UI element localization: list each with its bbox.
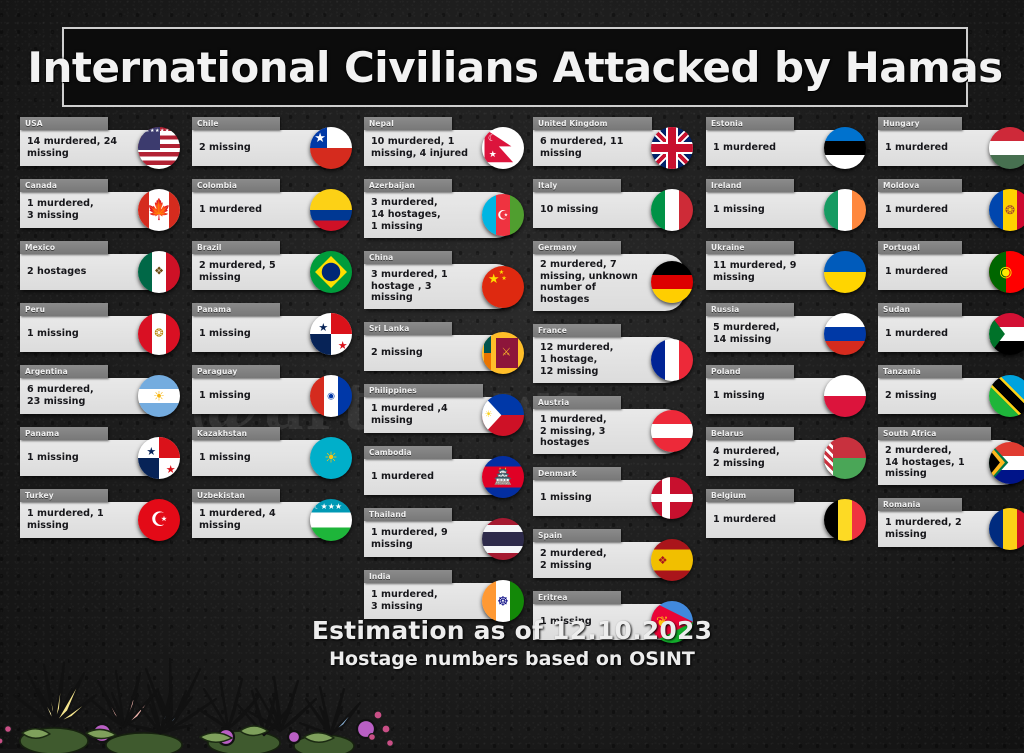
casualty-detail-row: 5 murdered,14 missing: [706, 316, 858, 352]
casualty-detail-row: 1 missing ☀: [192, 440, 344, 476]
country-card-argentina[interactable]: Argentina6 murdered,23 missing ☀: [20, 365, 172, 414]
casualty-detail-text: 4 murdered,2 missing: [713, 446, 780, 469]
flag-canada-icon: 🍁: [138, 189, 180, 231]
country-column: USA14 murdered, 24 missing ★★★★★★★★★★★★★…: [20, 117, 172, 551]
country-name-tab: China: [364, 251, 452, 264]
country-name-tab: Kazakhstan: [192, 427, 280, 440]
country-card-nepal[interactable]: Nepal10 murdered, 1 missing, 4 injured ☾…: [364, 117, 516, 166]
flag-philippines-icon: ☀: [482, 394, 524, 436]
country-name-tab: Mexico: [20, 241, 108, 254]
country-name-label: Philippines: [369, 386, 417, 395]
country-name-label: Argentina: [25, 367, 68, 376]
country-card-south-africa[interactable]: South Africa2 murdered,14 hostages, 1 mi…: [878, 427, 1023, 485]
country-name-label: Sri Lanka: [369, 324, 409, 333]
country-card-austria[interactable]: Austria1 murdered,2 missing, 3 hostages: [533, 396, 685, 454]
flag-uk-icon: [651, 127, 693, 169]
country-name-tab: Sri Lanka: [364, 322, 452, 335]
casualty-detail-text: 2 murdered,2 missing: [540, 548, 607, 571]
casualty-detail-row: 1 murdered ◉: [878, 254, 1023, 290]
country-card-cambodia[interactable]: Cambodia1 murdered 🏯: [364, 446, 516, 495]
casualty-detail-row: 1 murdered,2 missing, 3 hostages: [533, 409, 685, 454]
country-name-tab: Spain: [533, 529, 621, 542]
casualty-detail-row: 2 missing ⚔: [364, 335, 516, 371]
country-name-label: Russia: [711, 305, 739, 314]
flag-peru-icon: ❂: [138, 313, 180, 355]
flag-uzbekistan-icon: ☾★★★: [310, 499, 352, 541]
country-name-label: Denmark: [538, 469, 577, 478]
flag-spain-icon: ❖: [651, 539, 693, 581]
country-name-label: Moldova: [883, 181, 919, 190]
country-name-tab: Italy: [533, 179, 621, 192]
casualty-detail-row: 4 murdered,2 missing: [706, 440, 858, 476]
country-card-ireland[interactable]: Ireland1 missing: [706, 179, 858, 228]
country-card-colombia[interactable]: Colombia1 murdered: [192, 179, 344, 228]
flag-hungary-icon: [989, 127, 1024, 169]
casualty-detail-row: 1 missing: [706, 378, 858, 414]
country-card-moldova[interactable]: Moldova1 murdered ❂: [878, 179, 1023, 228]
country-name-label: Ireland: [711, 181, 742, 190]
country-column: Chile2 missing ★Colombia1 murderedBrazil…: [192, 117, 344, 551]
flag-germany-icon: [651, 261, 693, 303]
country-name-label: Germany: [538, 243, 577, 252]
country-name-label: Panama: [197, 305, 231, 314]
flag-nepal-icon: ☾ ★: [482, 127, 524, 169]
flag-france-icon: [651, 339, 693, 381]
casualty-detail-row: 1 murdered 🏯: [364, 459, 516, 495]
country-name-tab: Nepal: [364, 117, 452, 130]
casualty-detail-text: 3 murdered, 1 hostage , 3 missing: [371, 269, 472, 304]
country-name-tab: United Kingdom: [533, 117, 652, 130]
flag-argentina-icon: ☀: [138, 375, 180, 417]
country-name-tab: Peru: [20, 303, 108, 316]
country-name-tab: Brazil: [192, 241, 280, 254]
casualty-detail-row: 2 missing ★: [192, 130, 344, 166]
country-name-tab: Thailand: [364, 508, 452, 521]
casualty-detail-text: 1 murdered, 1 missing: [27, 508, 128, 531]
country-name-tab: Panama: [20, 427, 108, 440]
casualty-detail-text: 10 murdered, 1 missing, 4 injured: [371, 136, 472, 159]
casualty-detail-text: 1 missing: [540, 492, 592, 504]
country-card-france[interactable]: France12 murdered,1 hostage,12 missing: [533, 324, 685, 383]
flag-colombia-icon: [310, 189, 352, 231]
page-title: International Civilians Attacked by Hama…: [27, 43, 1002, 92]
country-card-portugal[interactable]: Portugal1 murdered ◉: [878, 241, 1023, 290]
casualty-detail-row: 6 murdered,23 missing ☀: [20, 378, 172, 414]
casualty-detail-row: 3 murdered, 1 hostage , 3 missing ★ ★ ★: [364, 264, 516, 309]
casualty-detail-row: 1 missing ❂: [20, 316, 172, 352]
country-column: United Kingdom6 murdered, 11 missing Ita…: [533, 117, 685, 653]
country-name-label: Azerbaijan: [369, 181, 415, 190]
casualty-detail-text: 6 murdered, 11 missing: [540, 136, 641, 159]
flag-ukraine-icon: [824, 251, 866, 293]
casualty-detail-text: 1 murdered, 2 missing: [885, 517, 979, 540]
casualty-detail-text: 2 missing: [885, 390, 937, 402]
casualty-detail-row: 2 hostages ❖: [20, 254, 172, 290]
casualty-detail-text: 1 murdered: [371, 471, 434, 483]
casualty-detail-row: 1 missing: [533, 480, 685, 516]
casualty-detail-row: 1 murdered, 9 missing: [364, 521, 516, 557]
country-card-germany[interactable]: Germany2 murdered, 7 missing, unknown nu…: [533, 241, 685, 311]
country-name-tab: USA: [20, 117, 108, 130]
casualty-detail-row: 11 murdered, 9 missing: [706, 254, 858, 290]
casualty-detail-row: 10 missing: [533, 192, 685, 228]
flag-paraguay-icon: ◉: [310, 375, 352, 417]
country-name-tab: Uzbekistan: [192, 489, 280, 502]
country-name-tab: India: [364, 570, 452, 583]
casualty-detail-row: 1 missing ◉: [192, 378, 344, 414]
casualty-detail-text: 14 murdered, 24 missing: [27, 136, 128, 159]
flag-kazakhstan-icon: ☀: [310, 437, 352, 479]
casualty-detail-text: 1 missing: [713, 390, 765, 402]
flag-usa-icon: ★★★★★★★★★★★★★★: [138, 127, 180, 169]
country-card-uzbekistan[interactable]: Uzbekistan1 murdered, 4 missing ☾★★★: [192, 489, 344, 538]
country-card-belgium[interactable]: Belgium1 murdered: [706, 489, 858, 538]
country-name-label: United Kingdom: [538, 119, 607, 128]
casualty-detail-row: 1 murdered: [706, 502, 858, 538]
country-card-belarus[interactable]: Belarus4 murdered,2 missing: [706, 427, 858, 476]
country-name-tab: Poland: [706, 365, 794, 378]
casualty-detail-row: 6 murdered, 11 missing: [533, 130, 685, 166]
casualty-detail-text: 1 murdered: [885, 204, 948, 216]
country-name-label: Eritrea: [538, 593, 568, 602]
casualty-detail-text: 1 murdered: [713, 514, 776, 526]
flag-poland-icon: [824, 375, 866, 417]
flag-belgium-icon: [824, 499, 866, 541]
casualty-detail-text: 2 murdered, 5 missing: [199, 260, 300, 283]
country-name-label: Turkey: [25, 491, 54, 500]
country-name-label: Italy: [538, 181, 557, 190]
country-name-tab: Estonia: [706, 117, 794, 130]
casualty-detail-row: 1 murdered: [192, 192, 344, 228]
country-card-chile[interactable]: Chile2 missing ★: [192, 117, 344, 166]
casualty-detail-row: 14 murdered, 24 missing ★★★★★★★★★★★★★★: [20, 130, 172, 166]
casualty-detail-text: 1 missing: [199, 390, 251, 402]
country-name-tab: Colombia: [192, 179, 280, 192]
flag-cambodia-icon: 🏯: [482, 456, 524, 498]
country-column: Nepal10 murdered, 1 missing, 4 injured ☾…: [364, 117, 516, 632]
casualty-detail-row: 12 murdered,1 hostage,12 missing: [533, 337, 685, 383]
flag-tanzania-icon: [989, 375, 1024, 417]
casualty-detail-text: 1 missing: [199, 328, 251, 340]
country-column: Hungary1 murderedMoldova1 murdered ❂Port…: [878, 117, 1023, 560]
country-name-tab: Portugal: [878, 241, 962, 254]
country-card-sri-lanka[interactable]: Sri Lanka2 missing ⚔: [364, 322, 516, 371]
casualty-detail-text: 1 murdered, 9 missing: [371, 527, 472, 550]
country-name-tab: Austria: [533, 396, 621, 409]
country-name-label: Canada: [25, 181, 57, 190]
country-card-sudan[interactable]: Sudan1 murdered: [878, 303, 1023, 352]
country-card-paraguay[interactable]: Paraguay1 missing ◉: [192, 365, 344, 414]
flag-thailand-icon: [482, 518, 524, 560]
casualty-detail-text: 1 murdered,3 missing: [27, 198, 94, 221]
country-name-label: USA: [25, 119, 43, 128]
casualty-detail-text: 1 murdered,2 missing, 3 hostages: [540, 414, 641, 449]
casualty-detail-row: 2 murdered, 5 missing: [192, 254, 344, 290]
country-card-estonia[interactable]: Estonia1 murdered: [706, 117, 858, 166]
country-card-thailand[interactable]: Thailand1 murdered, 9 missing: [364, 508, 516, 557]
country-name-tab: Tanzania: [878, 365, 962, 378]
title-frame: International Civilians Attacked by Hama…: [62, 27, 968, 107]
country-name-tab: Hungary: [878, 117, 962, 130]
casualty-detail-row: 1 murdered, 2 missing: [878, 511, 1023, 547]
flag-turkey-icon: ☪: [138, 499, 180, 541]
country-name-label: Panama: [25, 429, 59, 438]
flag-panama-icon: ★ ★: [310, 313, 352, 355]
country-name-tab: Ireland: [706, 179, 794, 192]
country-card-philippines[interactable]: Philippines1 murdered ,4 missing ☀: [364, 384, 516, 433]
country-name-label: Sudan: [883, 305, 910, 314]
flower-decoration: [0, 633, 394, 753]
country-name-tab: Denmark: [533, 467, 621, 480]
country-name-label: Austria: [538, 398, 569, 407]
casualty-detail-row: 10 murdered, 1 missing, 4 injured ☾ ★: [364, 130, 516, 166]
casualty-detail-text: 2 murdered,14 hostages, 1 missing: [885, 445, 979, 480]
country-name-label: Kazakhstan: [197, 429, 247, 438]
country-grid: USA14 murdered, 24 missing ★★★★★★★★★★★★★…: [20, 117, 1010, 607]
casualty-detail-row: 1 murdered, 4 missing ☾★★★: [192, 502, 344, 538]
casualty-detail-text: 1 murdered: [885, 328, 948, 340]
country-name-label: Mexico: [25, 243, 55, 252]
country-card-india[interactable]: India1 murdered,3 missing ☸: [364, 570, 516, 619]
country-name-label: China: [369, 253, 393, 262]
country-card-azerbaijan[interactable]: Azerbaijan3 murdered,14 hostages,1 missi…: [364, 179, 516, 238]
country-column: Estonia1 murderedIreland1 missingUkraine…: [706, 117, 858, 551]
casualty-detail-text: 1 murdered: [885, 266, 948, 278]
casualty-detail-text: 10 missing: [540, 204, 598, 216]
flag-italy-icon: [651, 189, 693, 231]
country-card-canada[interactable]: Canada1 murdered,3 missing 🍁: [20, 179, 172, 228]
flag-romania-icon: [989, 508, 1024, 550]
country-name-label: Hungary: [883, 119, 920, 128]
country-name-tab: Chile: [192, 117, 280, 130]
casualty-detail-text: 1 murdered: [713, 142, 776, 154]
country-name-label: Thailand: [369, 510, 406, 519]
flag-denmark-icon: [651, 477, 693, 519]
country-card-peru[interactable]: Peru1 missing ❂: [20, 303, 172, 352]
flag-austria-icon: [651, 410, 693, 452]
casualty-detail-text: 11 murdered, 9 missing: [713, 260, 814, 283]
casualty-detail-text: 6 murdered,23 missing: [27, 384, 94, 407]
casualty-detail-row: 2 murdered,2 missing ❖: [533, 542, 685, 578]
country-name-tab: Argentina: [20, 365, 108, 378]
country-name-tab: Cambodia: [364, 446, 452, 459]
flag-russia-icon: [824, 313, 866, 355]
country-card-italy[interactable]: Italy10 missing: [533, 179, 685, 228]
casualty-detail-text: 1 missing: [713, 204, 765, 216]
casualty-detail-row: 1 murdered: [878, 130, 1023, 166]
casualty-detail-row: 1 murdered: [878, 316, 1023, 352]
country-name-tab: Turkey: [20, 489, 108, 502]
country-name-label: Tanzania: [883, 367, 921, 376]
country-card-kazakhstan[interactable]: Kazakhstan1 missing ☀: [192, 427, 344, 476]
country-card-mexico[interactable]: Mexico2 hostages ❖: [20, 241, 172, 290]
country-card-spain[interactable]: Spain2 murdered,2 missing ❖: [533, 529, 685, 578]
country-name-tab: Belgium: [706, 489, 794, 502]
country-name-tab: Philippines: [364, 384, 483, 397]
casualty-detail-row: 1 missing: [706, 192, 858, 228]
flag-estonia-icon: [824, 127, 866, 169]
flag-portugal-icon: ◉: [989, 251, 1024, 293]
country-name-tab: Moldova: [878, 179, 962, 192]
country-name-label: Nepal: [369, 119, 394, 128]
flag-belarus-icon: [824, 437, 866, 479]
country-name-tab: Romania: [878, 498, 962, 511]
country-name-label: Colombia: [197, 181, 237, 190]
casualty-detail-text: 2 murdered, 7 missing, unknown number of…: [540, 259, 641, 306]
casualty-detail-row: 1 murdered,3 missing ☸: [364, 583, 516, 619]
casualty-detail-row: 2 murdered,14 hostages, 1 missing: [878, 440, 1023, 485]
country-name-label: Estonia: [711, 119, 743, 128]
country-card-hungary[interactable]: Hungary1 murdered: [878, 117, 1023, 166]
casualty-detail-row: 1 murdered: [706, 130, 858, 166]
flag-southafrica-icon: [989, 442, 1024, 484]
casualty-detail-text: 3 murdered,14 hostages,1 missing: [371, 197, 441, 232]
casualty-detail-row: 1 murdered ,4 missing ☀: [364, 397, 516, 433]
country-card-usa[interactable]: USA14 murdered, 24 missing ★★★★★★★★★★★★★…: [20, 117, 172, 166]
casualty-detail-row: 2 missing: [878, 378, 1023, 414]
country-name-label: Brazil: [197, 243, 222, 252]
casualty-detail-text: 1 murdered: [885, 142, 948, 154]
casualty-detail-text: 2 missing: [371, 347, 423, 359]
country-card-poland[interactable]: Poland1 missing: [706, 365, 858, 414]
casualty-detail-row: 1 missing ★ ★: [192, 316, 344, 352]
country-name-tab: Paraguay: [192, 365, 280, 378]
country-name-tab: Germany: [533, 241, 621, 254]
country-name-tab: Eritrea: [533, 591, 621, 604]
country-card-russia[interactable]: Russia5 murdered,14 missing: [706, 303, 858, 352]
casualty-detail-text: 1 murdered: [199, 204, 262, 216]
country-name-label: Ukraine: [711, 243, 745, 252]
casualty-detail-text: 1 missing: [27, 328, 79, 340]
country-card-tanzania[interactable]: Tanzania2 missing: [878, 365, 1023, 414]
country-name-label: Poland: [711, 367, 741, 376]
flag-azerbaijan-icon: ☪: [482, 194, 524, 236]
casualty-detail-row: 1 murdered, 1 missing ☪: [20, 502, 172, 538]
country-card-ukraine[interactable]: Ukraine11 murdered, 9 missing: [706, 241, 858, 290]
casualty-detail-row: 3 murdered,14 hostages,1 missing ☪: [364, 192, 516, 238]
casualty-detail-row: 1 missing ★ ★: [20, 440, 172, 476]
country-name-label: Belarus: [711, 429, 744, 438]
flag-ireland-icon: [824, 189, 866, 231]
casualty-detail-text: 1 murdered ,4 missing: [371, 403, 472, 426]
casualty-detail-row: 1 murdered,3 missing 🍁: [20, 192, 172, 228]
country-name-tab: Canada: [20, 179, 108, 192]
casualty-detail-text: 1 murdered, 4 missing: [199, 508, 300, 531]
country-name-tab: Russia: [706, 303, 794, 316]
country-name-tab: Belarus: [706, 427, 794, 440]
country-card-turkey[interactable]: Turkey1 murdered, 1 missing ☪: [20, 489, 172, 538]
country-name-label: Paraguay: [197, 367, 237, 376]
flag-moldova-icon: ❂: [989, 189, 1024, 231]
country-name-label: South Africa: [883, 429, 936, 438]
casualty-detail-text: 1 missing: [199, 452, 251, 464]
flag-srilanka-icon: ⚔: [482, 332, 524, 374]
flag-sudan-icon: [989, 313, 1024, 355]
country-name-tab: Ukraine: [706, 241, 794, 254]
flag-mexico-icon: ❖: [138, 251, 180, 293]
flag-panama-icon: ★ ★: [138, 437, 180, 479]
casualty-detail-text: 2 missing: [199, 142, 251, 154]
country-name-tab: Azerbaijan: [364, 179, 452, 192]
country-name-label: Spain: [538, 531, 562, 540]
poster-background: International Civilians Attacked by Hama…: [0, 0, 1024, 749]
flag-brazil-icon: [310, 251, 352, 293]
country-name-tab: South Africa: [878, 427, 991, 440]
country-name-label: Portugal: [883, 243, 920, 252]
country-name-label: Chile: [197, 119, 219, 128]
country-name-tab: Panama: [192, 303, 280, 316]
casualty-detail-text: 2 hostages: [27, 266, 86, 278]
country-name-tab: France: [533, 324, 621, 337]
country-name-label: Cambodia: [369, 448, 412, 457]
country-name-tab: Sudan: [878, 303, 962, 316]
country-name-label: Peru: [25, 305, 45, 314]
country-card-panama[interactable]: Panama1 missing ★ ★: [192, 303, 344, 352]
country-name-label: Romania: [883, 500, 920, 509]
flag-china-icon: ★ ★ ★: [482, 266, 524, 308]
country-card-china[interactable]: China3 murdered, 1 hostage , 3 missing ★…: [364, 251, 516, 309]
casualty-detail-row: 2 murdered, 7 missing, unknown number of…: [533, 254, 685, 311]
country-name-label: Belgium: [711, 491, 746, 500]
country-card-panama[interactable]: Panama1 missing ★ ★: [20, 427, 172, 476]
casualty-detail-text: 1 missing: [27, 452, 79, 464]
casualty-detail-row: 1 murdered ❂: [878, 192, 1023, 228]
country-card-denmark[interactable]: Denmark1 missing: [533, 467, 685, 516]
casualty-detail-text: 12 murdered,1 hostage,12 missing: [540, 342, 613, 377]
country-name-label: France: [538, 326, 567, 335]
country-name-label: Uzbekistan: [197, 491, 245, 500]
flag-chile-icon: ★: [310, 127, 352, 169]
casualty-detail-text: 1 murdered,3 missing: [371, 589, 438, 612]
country-name-label: India: [369, 572, 391, 581]
country-card-romania[interactable]: Romania1 murdered, 2 missing: [878, 498, 1023, 547]
country-card-united-kingdom[interactable]: United Kingdom6 murdered, 11 missing: [533, 117, 685, 166]
country-card-brazil[interactable]: Brazil2 murdered, 5 missing: [192, 241, 344, 290]
casualty-detail-text: 5 murdered,14 missing: [713, 322, 780, 345]
